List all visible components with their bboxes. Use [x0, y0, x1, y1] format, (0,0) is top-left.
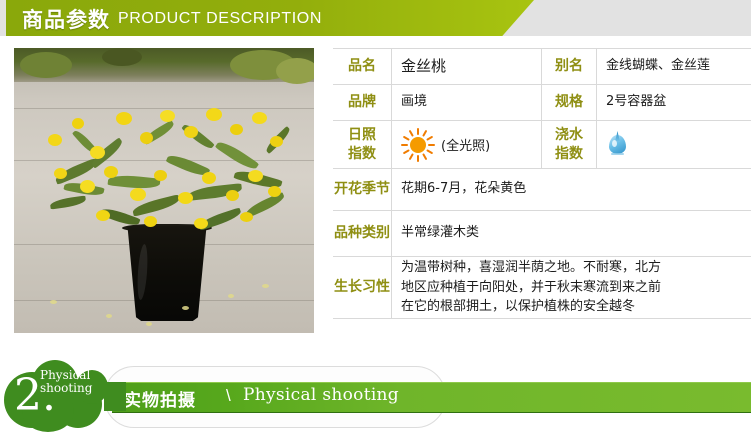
- banner-title-en: Physical shooting: [243, 385, 399, 405]
- fallen-petal: [182, 306, 189, 310]
- sunlight-label-line2: 指数: [333, 145, 391, 164]
- spec-value-brand: 画境: [392, 85, 542, 121]
- sun-icon: [401, 128, 435, 162]
- banner-green-bar: [112, 382, 751, 413]
- fallen-petal: [50, 300, 57, 304]
- spec-value-blooming-season: 花期6-7月，花朵黄色: [392, 169, 751, 211]
- fallen-petal: [262, 284, 269, 288]
- spec-label-blooming-season: 开花季节: [333, 169, 392, 211]
- plant-flowers: [44, 106, 290, 238]
- spec-label-growth-habit: 生长习性: [333, 257, 392, 319]
- badge-en-line2: shooting: [40, 382, 112, 395]
- product-photo: [14, 48, 314, 333]
- sunlight-note: (全光照): [441, 135, 490, 154]
- table-row: 生长习性 为温带树种，喜湿润半荫之地。不耐寒，北方 地区应种植于向阳处，并于秋末…: [333, 257, 751, 319]
- watering-label-line2: 指数: [542, 145, 596, 164]
- product-spec-table: 品名 金丝桃 别名 金线蝴蝶、金丝莲 品牌 画境 规格 2号容器盆 日照 指数: [333, 48, 751, 319]
- page-title-english: PRODUCT DESCRIPTION: [118, 10, 322, 28]
- badge-en-line1: Physical: [40, 369, 112, 382]
- photo-bg-shrub: [102, 48, 142, 66]
- fallen-petal: [146, 322, 152, 326]
- fallen-petal: [228, 294, 234, 298]
- spec-label-variety-type: 品种类别: [333, 211, 392, 257]
- spec-value-product-name: 金丝桃: [392, 49, 542, 85]
- banner-title-cn: 实物拍摄: [124, 386, 196, 411]
- spec-label-product-name: 品名: [333, 49, 392, 85]
- growth-habit-line3: 在它的根部拥土，以保护植株的安全越冬: [401, 297, 751, 317]
- fallen-petal: [106, 314, 112, 318]
- spec-value-variety-type: 半常绿灌木类: [392, 211, 751, 257]
- spec-value-specification: 2号容器盆: [597, 85, 751, 121]
- spec-label-specification: 规格: [542, 85, 597, 121]
- table-row: 开花季节 花期6-7月，花朵黄色: [333, 169, 751, 211]
- table-row: 品名 金丝桃 别名 金线蝴蝶、金丝莲: [333, 49, 751, 85]
- water-drop-icon: [609, 133, 626, 156]
- table-row: 日照 指数: [333, 121, 751, 169]
- spec-label-watering-index: 浇水 指数: [542, 121, 597, 169]
- spec-value-sunlight-index: (全光照): [392, 121, 542, 169]
- badge-english-label: Physical shooting: [40, 369, 112, 396]
- growth-habit-line2: 地区应种植于向阳处，并于秋末寒流到来之前: [401, 278, 751, 298]
- photo-bg-shrub: [276, 58, 314, 84]
- section-banner: 2. Physical shooting 实物拍摄 \ Physical sho…: [0, 360, 751, 433]
- section-number-badge: 2. Physical shooting: [4, 360, 124, 433]
- header-bottom-gap: [0, 36, 751, 40]
- spec-label-sunlight-index: 日照 指数: [333, 121, 392, 169]
- table-row: 品牌 画境 规格 2号容器盆: [333, 85, 751, 121]
- page-title: 商品参数: [22, 4, 110, 34]
- watering-label-line1: 浇水: [542, 126, 596, 145]
- table-row: 品种类别 半常绿灌木类: [333, 211, 751, 257]
- page-header: 商品参数 PRODUCT DESCRIPTION: [0, 0, 751, 40]
- spec-label-brand: 品牌: [333, 85, 392, 121]
- banner-separator: \: [226, 386, 231, 406]
- spec-value-alias: 金线蝴蝶、金丝莲: [597, 49, 751, 85]
- growth-habit-line1: 为温带树种，喜湿润半荫之地。不耐寒，北方: [401, 258, 751, 278]
- photo-bg-shrub: [20, 52, 72, 78]
- spec-value-watering-index: [597, 121, 751, 169]
- sunlight-label-line1: 日照: [333, 126, 391, 145]
- spec-value-growth-habit: 为温带树种，喜湿润半荫之地。不耐寒，北方 地区应种植于向阳处，并于秋末寒流到来之…: [392, 257, 751, 319]
- spec-label-alias: 别名: [542, 49, 597, 85]
